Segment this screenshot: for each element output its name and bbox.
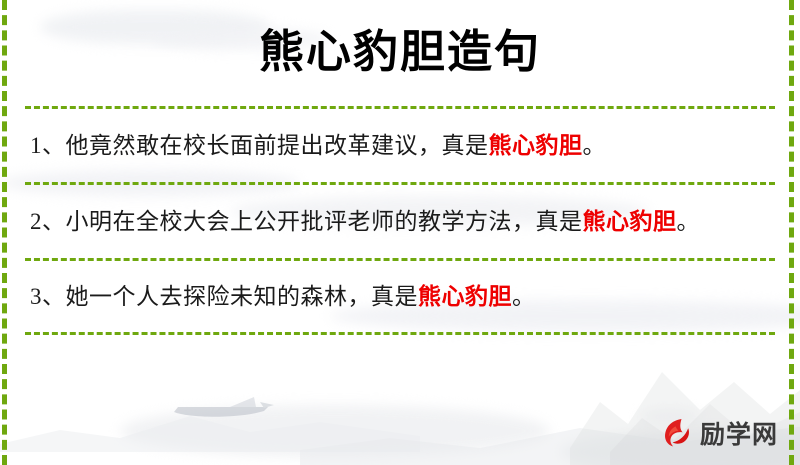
divider-after-sentence-3 [25, 332, 775, 335]
page-title: 熊心豹胆造句 [24, 0, 776, 82]
frame-border-right [789, 0, 794, 465]
frame-border-left [2, 0, 7, 465]
sentence-1-index: 1、 [30, 133, 66, 158]
site-logo[interactable]: 励学网 [659, 415, 778, 451]
sentence-3-keyword: 熊心豹胆 [418, 284, 512, 309]
sentence-1-text-before: 他竟然敢在校长面前提出改革建议，真是 [66, 133, 489, 158]
sentence-1-keyword: 熊心豹胆 [489, 133, 583, 158]
sentence-2-text-after: 。 [677, 209, 701, 234]
sentence-item-1: 1、他竟然敢在校长面前提出改革建议，真是熊心豹胆。 [24, 109, 776, 182]
content-area: 熊心豹胆造句 1、他竟然敢在校长面前提出改革建议，真是熊心豹胆。 2、小明在全校… [0, 0, 800, 465]
sentence-2-index: 2、 [30, 209, 66, 234]
flame-swirl-icon [659, 416, 693, 450]
sentence-2-text-before: 小明在全校大会上公开批评老师的教学方法，真是 [66, 209, 583, 234]
sentence-2-keyword: 熊心豹胆 [583, 209, 677, 234]
sentence-3-text-after: 。 [512, 284, 536, 309]
sentence-1-text-after: 。 [583, 133, 607, 158]
site-logo-text: 励学网 [700, 415, 778, 451]
sentence-3-text-before: 她一个人去探险未知的森林，真是 [66, 284, 419, 309]
page-root: 熊心豹胆造句 1、他竟然敢在校长面前提出改革建议，真是熊心豹胆。 2、小明在全校… [0, 0, 800, 465]
sentence-item-3: 3、她一个人去探险未知的森林，真是熊心豹胆。 [24, 261, 776, 332]
sentence-3-index: 3、 [30, 284, 66, 309]
sentence-item-2: 2、小明在全校大会上公开批评老师的教学方法，真是熊心豹胆。 [24, 185, 776, 258]
